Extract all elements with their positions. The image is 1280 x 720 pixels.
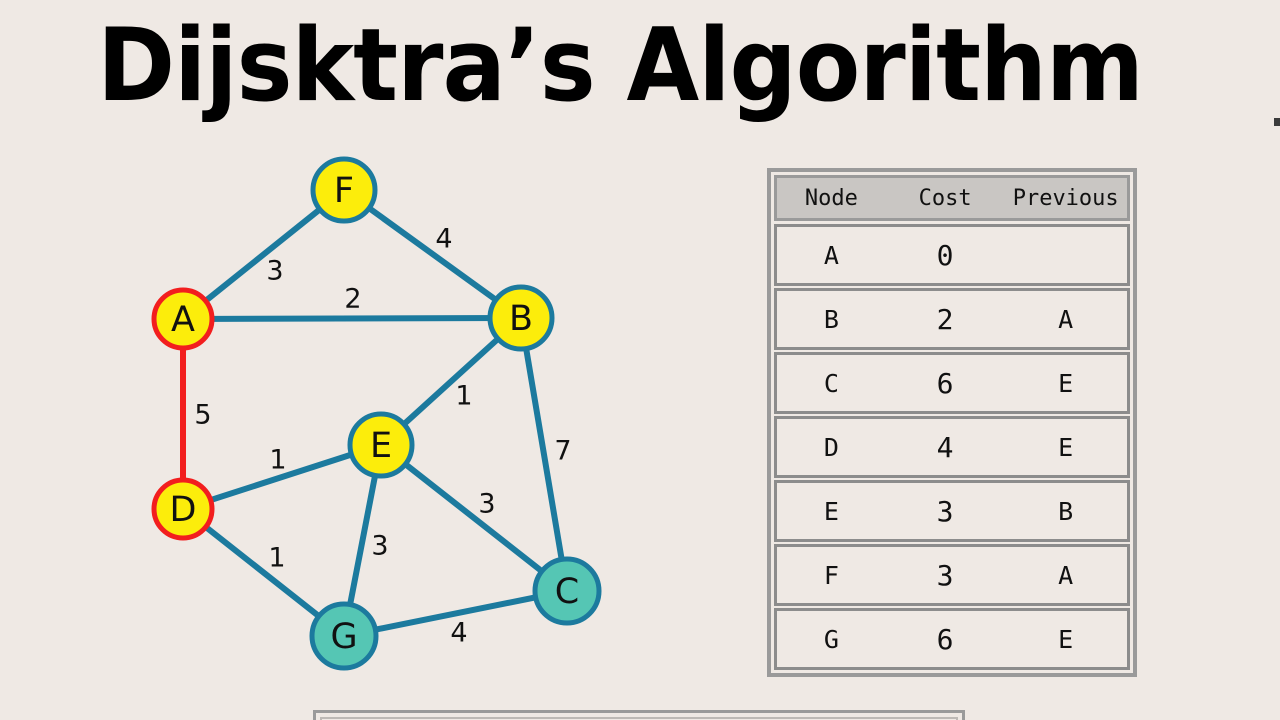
edge-weight-a-f: 3 <box>266 256 283 287</box>
table-row: A0 <box>774 224 1130 286</box>
graph-node-label-a: A <box>171 300 195 340</box>
cell-node: A <box>777 241 886 270</box>
table-header-row: Node Cost Previous <box>774 175 1130 221</box>
graph-svg: 32451713314 ABCDEFG <box>0 0 720 720</box>
edge-weight-b-c: 7 <box>554 436 571 467</box>
table-body: A0B2AC6ED4EE3BF3AG6E <box>774 224 1130 670</box>
edge-weight-g-c: 4 <box>450 618 467 649</box>
cost-table: Node Cost Previous A0B2AC6ED4EE3BF3AG6E <box>767 168 1137 677</box>
graph-node-label-c: C <box>555 572 579 612</box>
table-row: F3A <box>774 544 1130 606</box>
graph-diagram: 32451713314 ABCDEFG <box>0 0 720 720</box>
graph-node-label-b: B <box>509 299 533 339</box>
cell-previous: E <box>1004 433 1127 462</box>
cell-cost: 2 <box>886 303 1005 336</box>
cell-cost: 4 <box>886 431 1005 464</box>
cell-previous: E <box>1004 369 1127 398</box>
table-row: G6E <box>774 608 1130 670</box>
cell-node: D <box>777 433 886 462</box>
cell-previous: B <box>1004 497 1127 526</box>
table-row: C6E <box>774 352 1130 414</box>
cell-cost: 6 <box>886 367 1005 400</box>
column-header-previous: Previous <box>1004 186 1127 211</box>
graph-node-label-d: D <box>170 490 197 530</box>
edge-weight-d-e: 1 <box>269 445 286 476</box>
edge-weight-a-d: 5 <box>194 400 211 431</box>
cell-cost: 0 <box>886 239 1005 272</box>
graph-edge-e-c <box>381 445 567 591</box>
cell-node: C <box>777 369 886 398</box>
cell-cost: 6 <box>886 623 1005 656</box>
cell-node: G <box>777 625 886 654</box>
cell-cost: 3 <box>886 559 1005 592</box>
edge-weight-f-b: 4 <box>435 224 452 255</box>
cell-previous: A <box>1004 305 1127 334</box>
cell-node: E <box>777 497 886 526</box>
edge-weight-d-g: 1 <box>268 543 285 574</box>
right-edge-marker <box>1274 118 1280 126</box>
graph-edge-a-b <box>183 318 521 319</box>
edge-weight-e-g: 3 <box>371 531 388 562</box>
graph-node-label-f: F <box>334 171 354 211</box>
table-row: D4E <box>774 416 1130 478</box>
cell-node: F <box>777 561 886 590</box>
column-header-node: Node <box>777 186 886 211</box>
cell-cost: 3 <box>886 495 1005 528</box>
cell-node: B <box>777 305 886 334</box>
slide-root: Dijsktra’s Algorithm 32451713314 ABCDEFG… <box>0 0 1280 720</box>
graph-node-label-g: G <box>330 617 357 657</box>
table-row: B2A <box>774 288 1130 350</box>
graph-node-label-e: E <box>370 426 392 466</box>
cell-previous: E <box>1004 625 1127 654</box>
bottom-partial-panel <box>313 710 965 720</box>
edge-weight-a-b: 2 <box>344 284 361 315</box>
column-header-cost: Cost <box>886 186 1005 211</box>
graph-nodes: ABCDEFG <box>154 159 599 668</box>
edge-weight-e-c: 3 <box>478 489 495 520</box>
table-row: E3B <box>774 480 1130 542</box>
edge-weight-b-e: 1 <box>455 381 472 412</box>
cell-previous: A <box>1004 561 1127 590</box>
